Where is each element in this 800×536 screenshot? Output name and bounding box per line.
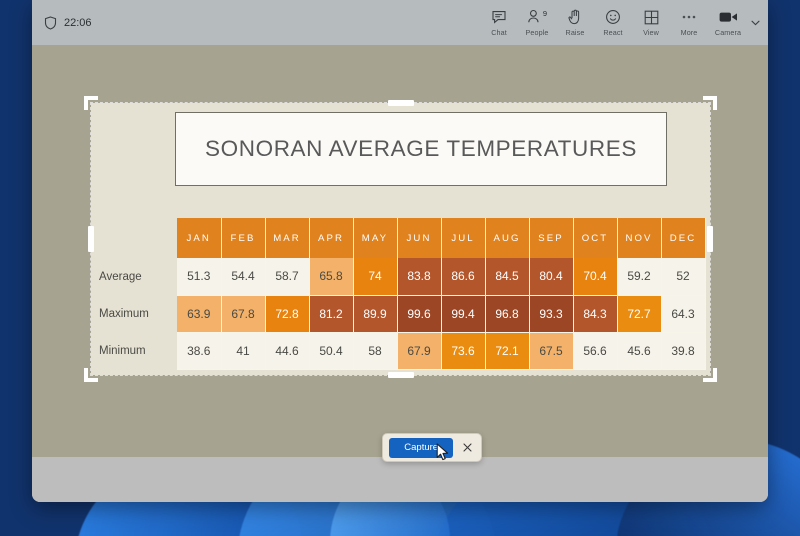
cell-minimum-sep: 67.5	[529, 332, 573, 369]
temperature-heat-table: JANFEBMARAPRMAYJUNJULAUGSEPOCTNOVDEC Ave…	[99, 218, 706, 370]
page-title: SONORAN AVERAGE TEMPERATURES	[205, 136, 637, 162]
more-ellipsis-icon	[681, 9, 697, 26]
toolbar-item-chat[interactable]: Chat	[480, 2, 518, 44]
month-header-jul: JUL	[441, 218, 485, 258]
month-header-jun: JUN	[397, 218, 441, 258]
table-corner-cell	[99, 218, 177, 258]
cell-average-oct: 70.4	[573, 258, 617, 295]
people-icon: 9	[527, 9, 547, 26]
cell-maximum-jan: 63.9	[177, 295, 221, 332]
month-header-oct: OCT	[573, 218, 617, 258]
cell-minimum-nov: 45.6	[617, 332, 661, 369]
toolbar-item-more[interactable]: More	[670, 2, 708, 44]
resize-handle-bottom-right[interactable]	[703, 368, 717, 382]
snip-selection-region[interactable]: SONORAN AVERAGE TEMPERATURES JANFEBMARAP…	[91, 103, 710, 375]
table-row: Maximum63.967.872.881.289.999.699.496.89…	[99, 295, 705, 332]
resize-handle-left-middle[interactable]	[88, 226, 94, 252]
toolbar-label-react: React	[603, 28, 622, 37]
cell-minimum-dec: 39.8	[661, 332, 705, 369]
cell-average-feb: 54.4	[221, 258, 265, 295]
cell-average-nov: 59.2	[617, 258, 661, 295]
cell-minimum-aug: 72.1	[485, 332, 529, 369]
cell-maximum-mar: 72.8	[265, 295, 309, 332]
month-header-dec: DEC	[661, 218, 705, 258]
cell-average-jul: 86.6	[441, 258, 485, 295]
cell-average-sep: 80.4	[529, 258, 573, 295]
cell-maximum-jun: 99.6	[397, 295, 441, 332]
slide-title-box: SONORAN AVERAGE TEMPERATURES	[175, 112, 667, 186]
cell-average-may: 74	[353, 258, 397, 295]
cell-maximum-oct: 84.3	[573, 295, 617, 332]
month-header-sep: SEP	[529, 218, 573, 258]
meeting-toolbar: Chat 9 People Raise	[480, 0, 762, 45]
toolbar-item-camera[interactable]: Camera	[708, 2, 748, 44]
cell-minimum-may: 58	[353, 332, 397, 369]
toolbar-label-people: People	[526, 28, 549, 37]
toolbar-label-more: More	[681, 28, 698, 37]
month-header-may: MAY	[353, 218, 397, 258]
table-body: Average51.354.458.765.87483.886.684.580.…	[99, 258, 705, 369]
cell-average-mar: 58.7	[265, 258, 309, 295]
cell-average-aug: 84.5	[485, 258, 529, 295]
table-row: Average51.354.458.765.87483.886.684.580.…	[99, 258, 705, 295]
cell-maximum-feb: 67.8	[221, 295, 265, 332]
row-label-minimum: Minimum	[99, 332, 177, 369]
row-label-maximum: Maximum	[99, 295, 177, 332]
cell-minimum-oct: 56.6	[573, 332, 617, 369]
cell-average-dec: 52	[661, 258, 705, 295]
cell-average-jan: 51.3	[177, 258, 221, 295]
toolbar-item-view[interactable]: View	[632, 2, 670, 44]
resize-handle-top-left[interactable]	[84, 96, 98, 110]
cell-minimum-apr: 50.4	[309, 332, 353, 369]
camera-icon	[719, 9, 738, 26]
shield-icon	[44, 16, 57, 30]
cell-maximum-sep: 93.3	[529, 295, 573, 332]
cell-average-apr: 65.8	[309, 258, 353, 295]
cell-maximum-aug: 96.8	[485, 295, 529, 332]
resize-handle-bottom-center[interactable]	[388, 372, 414, 378]
cell-maximum-jul: 99.4	[441, 295, 485, 332]
month-header-feb: FEB	[221, 218, 265, 258]
toolbar-label-camera: Camera	[715, 28, 741, 37]
meeting-status: 22:06	[44, 16, 92, 30]
month-header-nov: NOV	[617, 218, 661, 258]
resize-handle-top-center[interactable]	[388, 100, 414, 106]
cell-minimum-jul: 73.6	[441, 332, 485, 369]
chevron-down-icon[interactable]	[748, 2, 762, 44]
month-header-aug: AUG	[485, 218, 529, 258]
cell-maximum-apr: 81.2	[309, 295, 353, 332]
meeting-timer: 22:06	[64, 17, 92, 29]
window-bottom-strip	[32, 457, 768, 502]
toolbar-item-react[interactable]: React	[594, 2, 632, 44]
close-icon[interactable]	[459, 438, 475, 458]
people-count-badge: 9	[543, 10, 547, 18]
chat-icon	[491, 9, 507, 26]
cell-maximum-dec: 64.3	[661, 295, 705, 332]
resize-handle-bottom-left[interactable]	[84, 368, 98, 382]
toolbar-label-chat: Chat	[491, 28, 507, 37]
snip-capture-toolbar: Capture	[382, 433, 482, 462]
resize-handle-top-right[interactable]	[703, 96, 717, 110]
raise-hand-icon	[568, 9, 582, 26]
row-label-average: Average	[99, 258, 177, 295]
cell-maximum-nov: 72.7	[617, 295, 661, 332]
cell-maximum-may: 89.9	[353, 295, 397, 332]
toolbar-item-raise[interactable]: Raise	[556, 2, 594, 44]
month-header-apr: APR	[309, 218, 353, 258]
toolbar-label-raise: Raise	[566, 28, 585, 37]
capture-button[interactable]: Capture	[389, 438, 453, 458]
month-header-jan: JAN	[177, 218, 221, 258]
toolbar-item-people[interactable]: 9 People	[518, 2, 556, 44]
meeting-top-bar: 22:06 Chat 9	[32, 0, 768, 45]
month-header-mar: MAR	[265, 218, 309, 258]
teams-meeting-window: 22:06 Chat 9	[32, 0, 768, 502]
cell-minimum-feb: 41	[221, 332, 265, 369]
shared-content-stage: SONORAN AVERAGE TEMPERATURES JANFEBMARAP…	[32, 45, 768, 457]
resize-handle-right-middle[interactable]	[707, 226, 713, 252]
cell-average-jun: 83.8	[397, 258, 441, 295]
table-row: Minimum38.64144.650.45867.973.672.167.55…	[99, 332, 705, 369]
cell-minimum-mar: 44.6	[265, 332, 309, 369]
cell-minimum-jun: 67.9	[397, 332, 441, 369]
react-smiley-icon	[605, 9, 621, 26]
toolbar-label-view: View	[643, 28, 659, 37]
view-grid-icon	[644, 9, 659, 26]
table-header-row: JANFEBMARAPRMAYJUNJULAUGSEPOCTNOVDEC	[99, 218, 705, 258]
cell-minimum-jan: 38.6	[177, 332, 221, 369]
